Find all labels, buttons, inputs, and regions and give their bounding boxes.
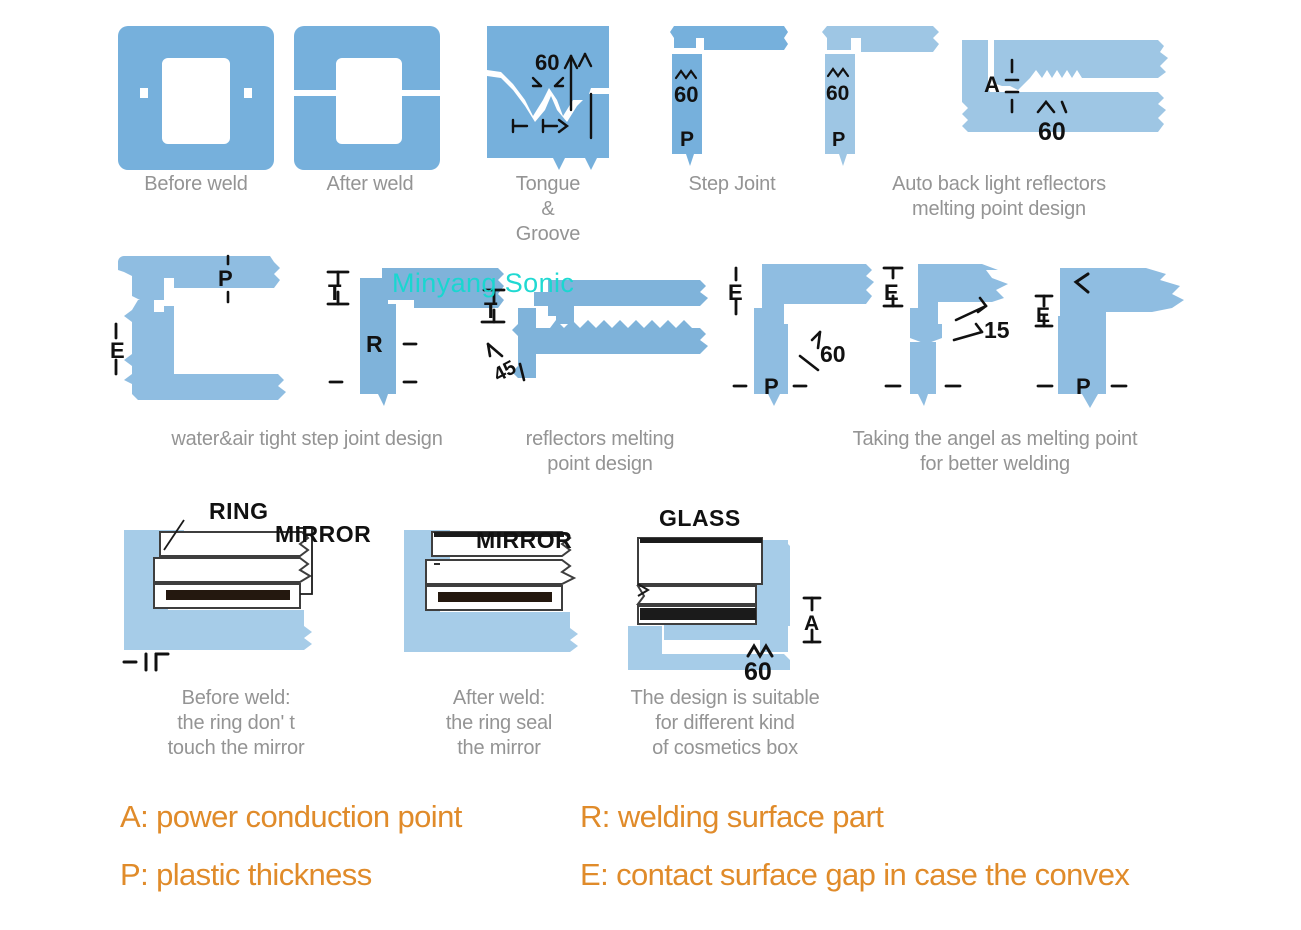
figure-angle-60: E 60 P (726, 258, 882, 418)
svg-text:P: P (832, 129, 845, 151)
svg-text:T: T (328, 280, 342, 305)
figure-water-air-tight-left: P E (110, 256, 300, 416)
svg-text:T: T (484, 298, 498, 323)
caption-after-weld: After weld (262, 172, 478, 197)
caption-auto-back-light-reflectors: Auto back light reflectors melting point… (828, 172, 1170, 222)
svg-text:E: E (110, 338, 125, 363)
svg-text:A: A (984, 72, 1000, 97)
caption-ring-before-weld: Before weld: the ring don' t touch the m… (118, 686, 354, 761)
caption-water-air-tight-step-joint: water&air tight step joint design (112, 427, 502, 452)
figure-after-weld (294, 26, 440, 170)
svg-text:P: P (764, 374, 779, 399)
svg-text:15: 15 (984, 317, 1010, 343)
legend-row: A: power conduction point R: welding sur… (120, 788, 1240, 846)
figure-tongue-and-groove: 60 (487, 26, 609, 172)
caption-glass-cosmetics-box: The design is suitable for different kin… (598, 686, 852, 761)
figure-step-joint: 60 P (668, 26, 788, 172)
svg-text:E: E (728, 280, 743, 305)
svg-text:R: R (366, 331, 383, 357)
svg-text:45: 45 (490, 357, 520, 387)
figure-angle-chamfer: E P (1034, 258, 1194, 418)
svg-text:P: P (680, 128, 694, 151)
figure-angle-15: E 15 (880, 258, 1040, 418)
legend-row: P: plastic thickness E: contact surface … (120, 846, 1240, 904)
diagram-sheet: Before weld After weld (0, 0, 1301, 930)
svg-text:60: 60 (826, 82, 849, 105)
label-ring: RING (209, 498, 269, 525)
caption-taking-the-angel-as-melting-point: Taking the angel as melting point for be… (762, 427, 1228, 477)
legend-r-welding-surface-part: R: welding surface part (580, 799, 1230, 835)
svg-text:60: 60 (674, 82, 698, 107)
label-mirror-2: MIRROR (476, 527, 572, 554)
svg-text:E: E (884, 280, 899, 305)
label-glass: GLASS (659, 505, 741, 532)
figure-auto-back-light-right: A 60 (962, 40, 1168, 148)
caption-tongue-and-groove: Tongue & Groove (462, 172, 634, 247)
svg-text:A: A (804, 612, 819, 635)
svg-text:60: 60 (744, 658, 772, 686)
legend-a-power-conduction-point: A: power conduction point (120, 799, 580, 835)
svg-text:60: 60 (820, 341, 846, 367)
figure-auto-back-light-left: 60 P (821, 26, 941, 172)
svg-text:60: 60 (535, 50, 559, 75)
caption-reflectors-melting-point: reflectors melting point design (492, 427, 708, 477)
svg-text:P: P (1076, 374, 1091, 399)
figure-before-weld (118, 26, 274, 170)
caption-ring-after-weld: After weld: the ring seal the mirror (404, 686, 594, 761)
legend-p-plastic-thickness: P: plastic thickness (120, 857, 580, 893)
svg-text:E: E (1036, 304, 1050, 327)
legend-e-contact-surface-gap: E: contact surface gap in case the conve… (580, 857, 1230, 893)
caption-step-joint: Step Joint (624, 172, 840, 197)
figure-reflectors-melting-point: T 45 (478, 268, 718, 418)
label-mirror: MIRROR (275, 521, 371, 548)
figure-glass-cosmetics-box: A 60 (622, 530, 842, 682)
svg-text:60: 60 (1038, 118, 1066, 146)
legend: A: power conduction point R: welding sur… (120, 788, 1240, 904)
svg-text:P: P (218, 266, 233, 291)
